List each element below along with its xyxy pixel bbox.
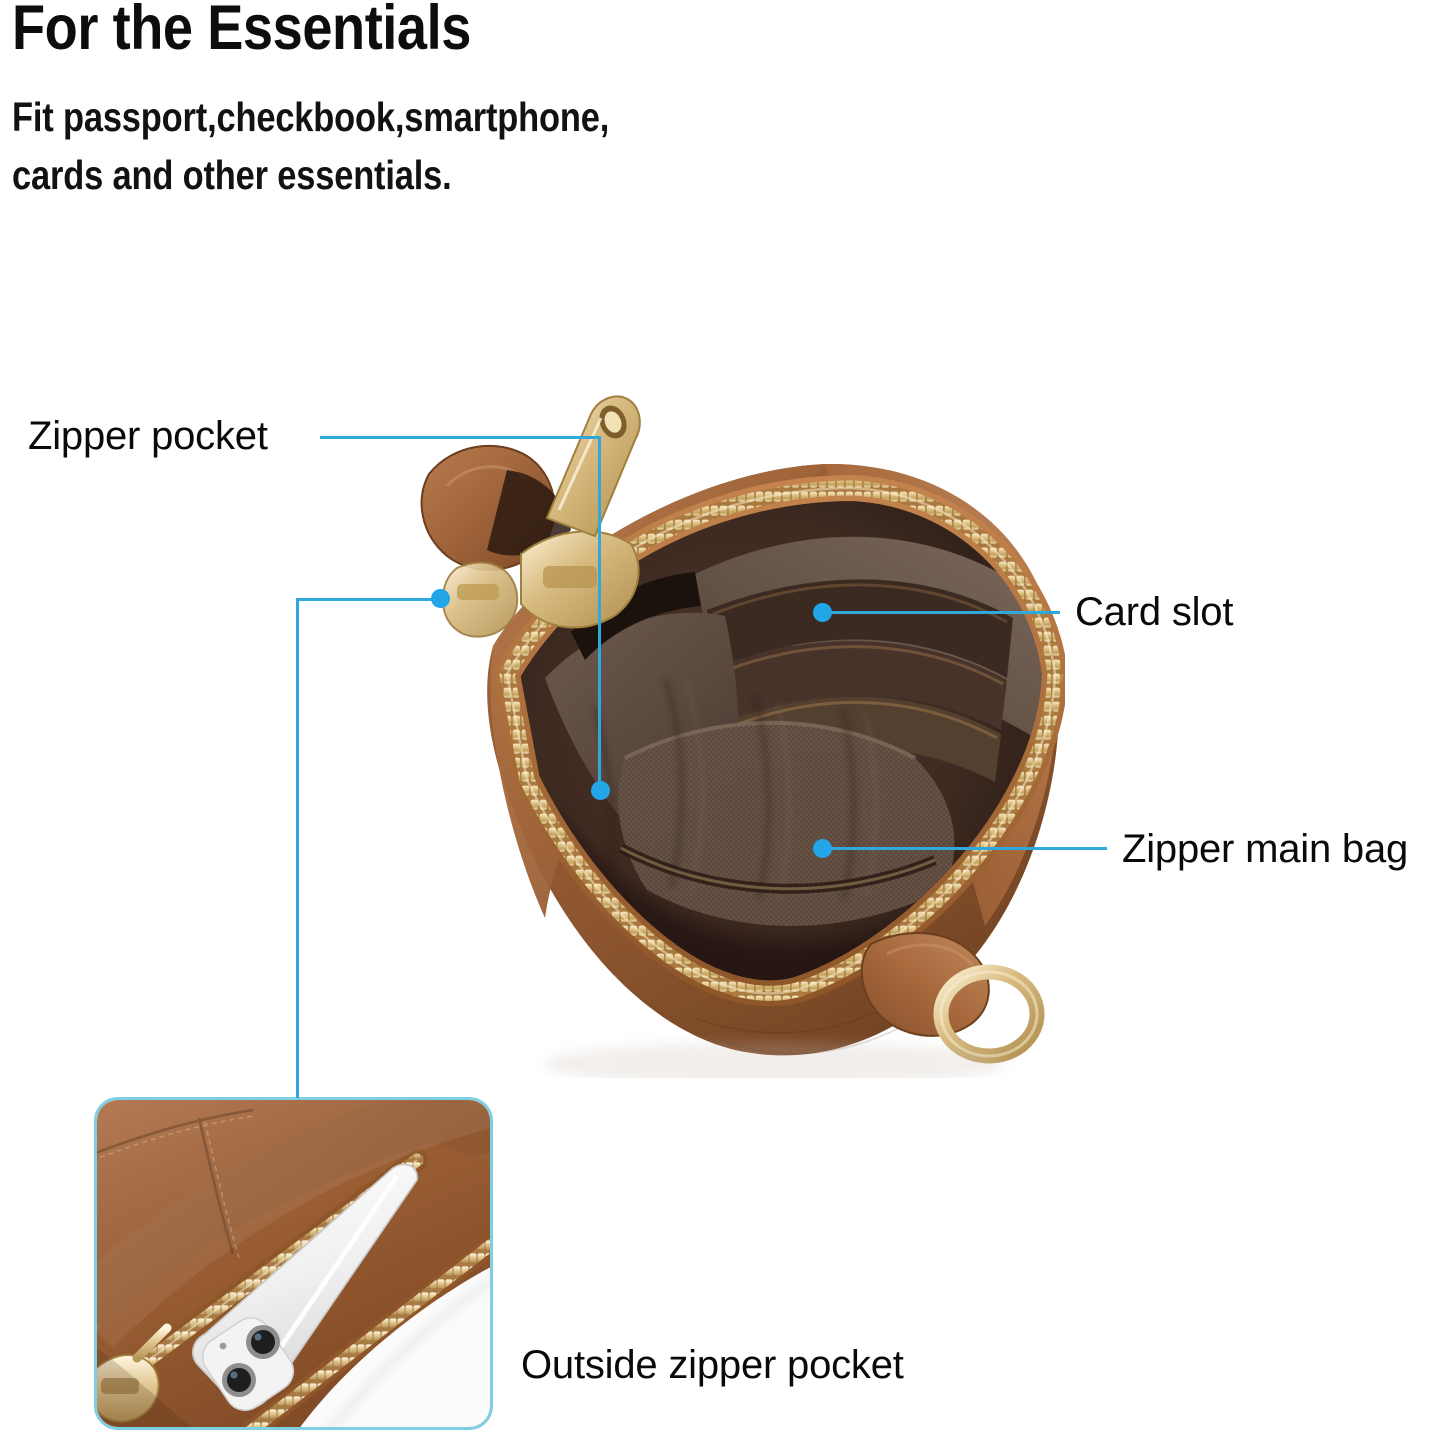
leader-line-zipper-pocket-vertical	[598, 436, 601, 792]
leader-line-outside-pocket-horizontal	[296, 598, 446, 601]
leader-line-card-slot	[826, 611, 1060, 614]
callout-label-zipper-main-bag: Zipper main bag	[1122, 829, 1408, 869]
outside-zipper-pocket-inset-photo	[94, 1097, 493, 1430]
callout-dot-zipper-main-bag	[813, 839, 832, 858]
callout-dot-zipper-pocket	[591, 781, 610, 800]
leader-line-zipper-main-bag	[826, 847, 1107, 850]
callout-label-zipper-pocket: Zipper pocket	[28, 416, 268, 456]
bag-illustration	[395, 378, 1065, 1078]
main-product-photo	[395, 378, 1065, 1078]
callout-dot-card-slot	[813, 603, 832, 622]
callout-label-outside-zipper-pocket: Outside zipper pocket	[521, 1345, 904, 1385]
callout-dot-outside-pocket	[431, 589, 450, 608]
callout-label-card-slot: Card slot	[1075, 592, 1233, 632]
infographic-canvas: For the Essentials Fit passport,checkboo…	[0, 0, 1441, 1444]
page-title: For the Essentials	[12, 0, 471, 60]
side-ring-hardware-left	[443, 562, 517, 636]
leader-line-outside-pocket-vertical	[296, 598, 299, 1098]
leader-line-zipper-pocket-horizontal	[320, 436, 601, 439]
d-ring-hardware	[862, 933, 1037, 1056]
page-subtitle: Fit passport,checkbook,smartphone, cards…	[12, 88, 609, 204]
inset-illustration	[94, 1097, 493, 1430]
